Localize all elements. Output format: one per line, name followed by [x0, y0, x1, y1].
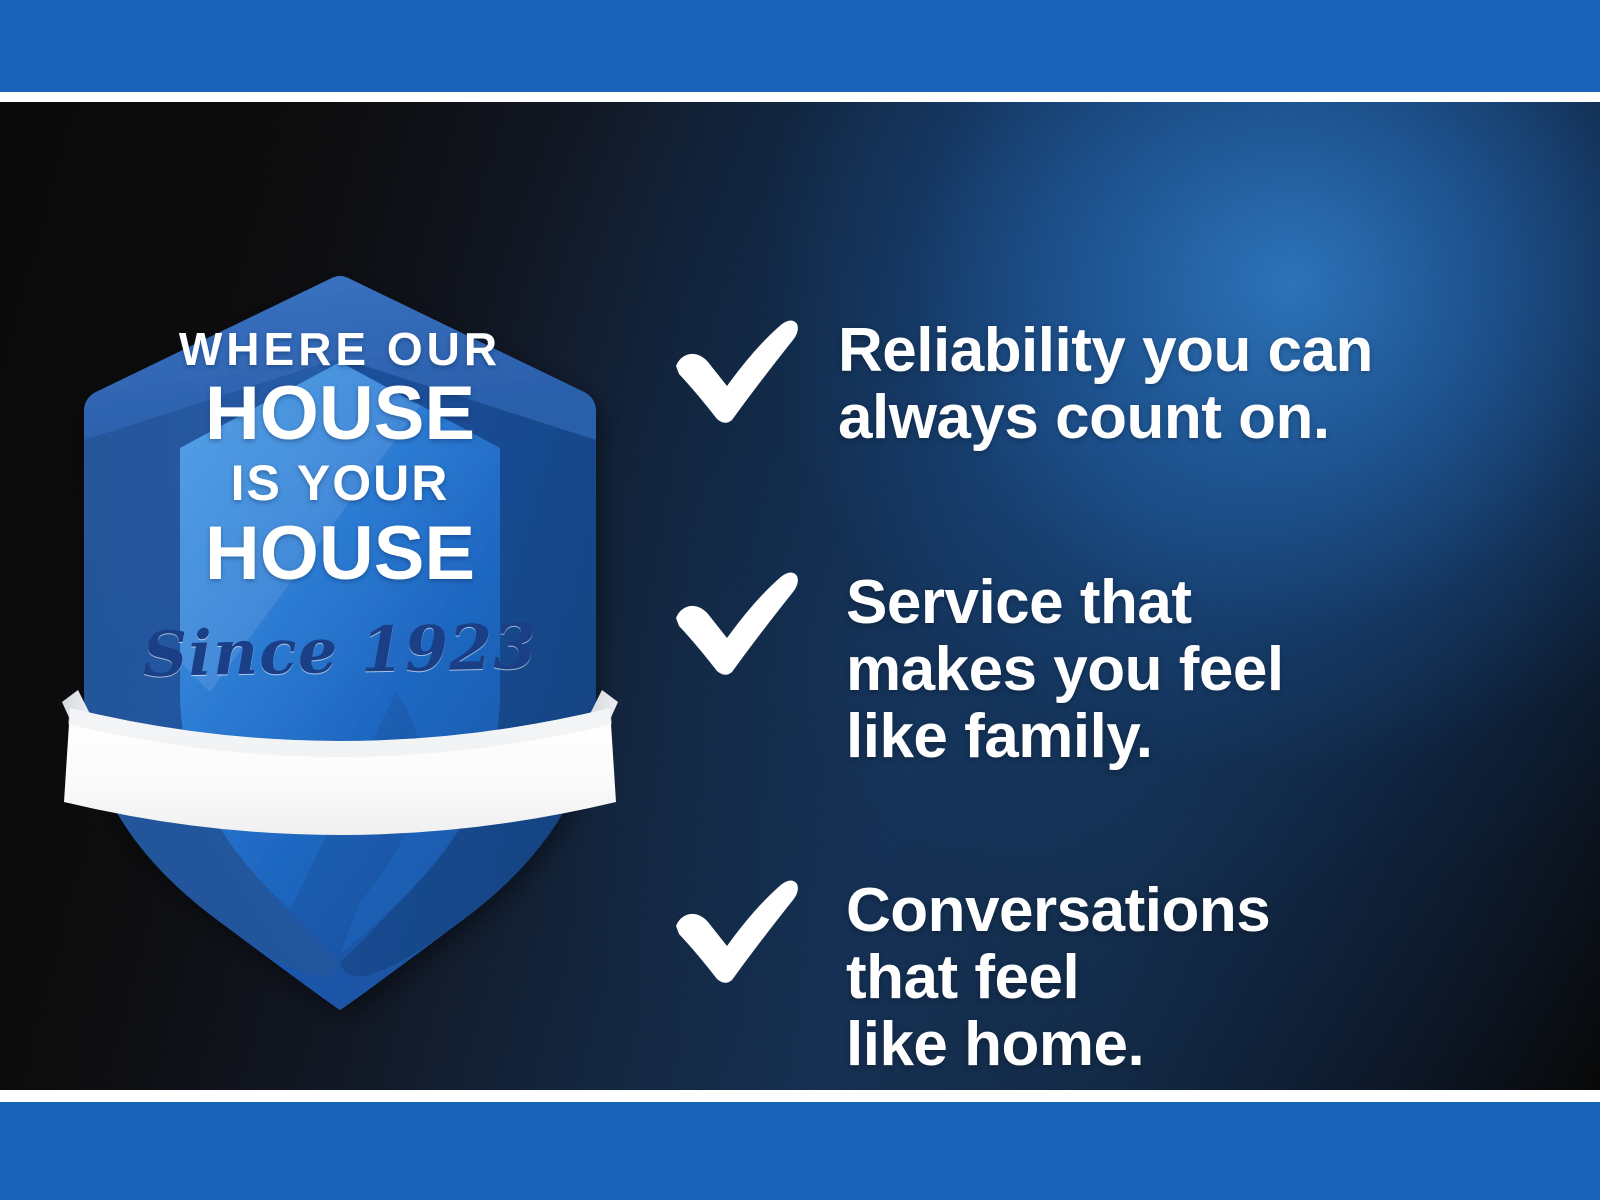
checkmark-icon: [670, 314, 800, 424]
main-stage: WHERE OUR HOUSE IS YOUR HOUSE Since 1923…: [0, 102, 1600, 1090]
bottom-brand-bar: [0, 1102, 1600, 1200]
checkmark-icon: [670, 874, 800, 984]
promo-graphic-canvas: WHERE OUR HOUSE IS YOUR HOUSE Since 1923…: [0, 0, 1600, 1200]
company-shield-badge: WHERE OUR HOUSE IS YOUR HOUSE Since 1923: [60, 262, 620, 942]
top-brand-bar: [0, 0, 1600, 92]
list-item-text: Service that makes you feel like family.: [846, 566, 1284, 771]
list-item-text: Reliability you can always count on.: [838, 314, 1373, 452]
list-item: Conversations that feel like home.: [670, 874, 1270, 1079]
checkmark-icon: [670, 566, 800, 676]
list-item: Service that makes you feel like family.: [670, 566, 1284, 771]
benefits-checklist: Reliability you can always count on. Ser…: [660, 204, 1540, 1090]
shield-body: [84, 276, 596, 1010]
list-item: Reliability you can always count on.: [670, 314, 1373, 452]
list-item-text: Conversations that feel like home.: [846, 874, 1270, 1079]
